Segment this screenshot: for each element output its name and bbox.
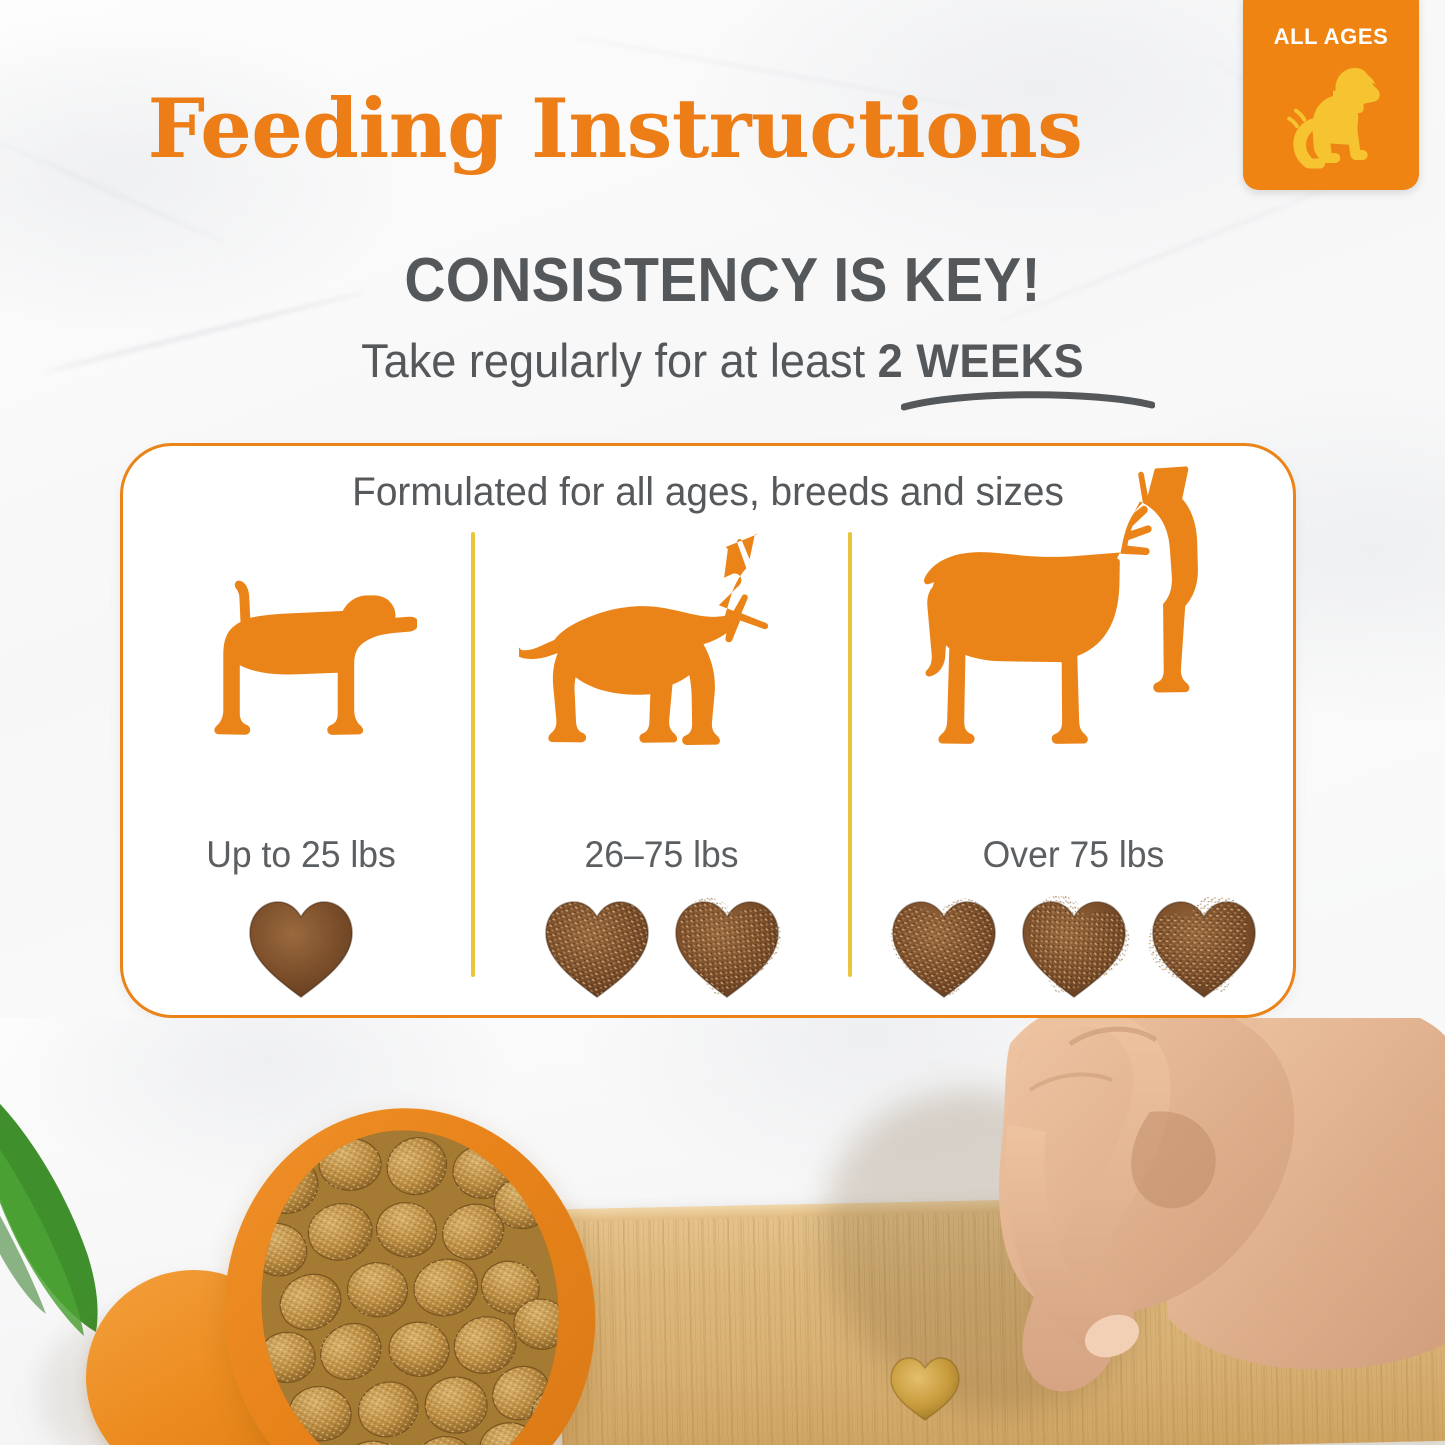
- heart-kibble-icon: [888, 896, 1000, 1000]
- large-dog-silhouette-icon: [924, 466, 1224, 756]
- heart-kibble-pile: [241, 1113, 578, 1445]
- subline-prefix: Take regularly for at least: [361, 334, 878, 387]
- heart-kibble-icon: [1148, 896, 1260, 1000]
- kibble-row-small: [131, 896, 471, 1000]
- sitting-dog-icon: [1259, 52, 1407, 180]
- small-dog-slot: [131, 456, 471, 756]
- size-label-large: Over 75 lbs: [861, 834, 1286, 876]
- size-column-small: Up to 25 lbs: [131, 496, 471, 1021]
- kibble-row-large: [852, 896, 1295, 1000]
- subline: Take regularly for at least 2 WEEKS: [361, 333, 1084, 388]
- all-ages-badge-label: ALL AGES: [1243, 24, 1419, 50]
- subheading: CONSISTENCY IS KEY!: [58, 245, 1387, 316]
- size-column-medium: 26–75 lbs: [475, 496, 848, 1021]
- subline-wrapper: Take regularly for at least 2 WEEKS: [0, 333, 1445, 388]
- subline-emphasis: 2 WEEKS: [878, 334, 1084, 387]
- size-column-large: Over 75 lbs: [852, 496, 1295, 1021]
- kibble-row-medium: [475, 896, 848, 1000]
- lifestyle-photo: [0, 1018, 1445, 1445]
- heart-kibble-icon: [1018, 896, 1130, 1000]
- container-interior: [241, 1113, 578, 1445]
- page-title: Feeding Instructions: [0, 82, 1230, 177]
- large-dog-slot: [852, 456, 1295, 756]
- size-label-small: Up to 25 lbs: [138, 834, 464, 876]
- all-ages-badge: ALL AGES: [1243, 0, 1419, 190]
- heart-kibble-icon: [245, 896, 357, 1000]
- held-kibble-icon: [888, 1354, 962, 1422]
- size-label-medium: 26–75 lbs: [482, 834, 840, 876]
- small-dog-silhouette-icon: [185, 568, 417, 756]
- medium-dog-slot: [475, 456, 848, 756]
- medium-dog-silhouette-icon: [519, 531, 805, 756]
- feeding-chart-card: Formulated for all ages, breeds and size…: [120, 443, 1296, 1018]
- heart-kibble-icon: [541, 896, 653, 1000]
- curved-swoosh-underline-icon: [901, 385, 1155, 413]
- heart-kibble-icon: [671, 896, 783, 1000]
- feeding-instructions-infographic: ALL AGES Feeding Instructions CONSISTENC…: [0, 0, 1445, 1445]
